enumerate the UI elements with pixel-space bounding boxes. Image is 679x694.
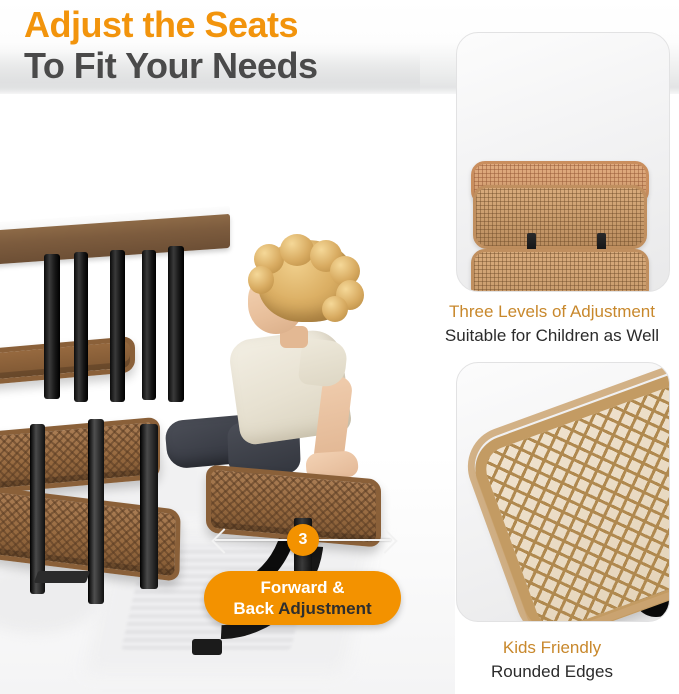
table-leg <box>168 246 184 402</box>
title-line-1: Adjust the Seats <box>24 4 444 46</box>
product-scene: 3 Forward & Back Adjustment <box>0 94 455 694</box>
frame-leg <box>30 424 45 594</box>
table-leg <box>44 254 60 399</box>
caption-subtext: Suitable for Children as Well <box>432 324 672 348</box>
frame-leg <box>88 419 104 604</box>
panel-three-levels <box>456 32 670 292</box>
caption-kids-friendly: Kids Friendly Rounded Edges <box>432 636 672 684</box>
title-line-2: To Fit Your Needs <box>24 46 444 86</box>
hair-curl <box>248 266 274 294</box>
panel-kids-friendly <box>456 362 670 622</box>
caption-headline: Three Levels of Adjustment <box>432 300 672 324</box>
seat-slab-middle <box>473 185 647 249</box>
hair-curl <box>280 234 314 266</box>
forward-back-adjustment-callout: Forward & Back Adjustment <box>204 571 401 625</box>
table-leg <box>74 252 88 402</box>
seat-corner-frame <box>457 362 670 622</box>
callout-line-2-rest: Adjustment <box>274 599 372 618</box>
caption-headline: Kids Friendly <box>432 636 672 660</box>
infographic-root: Adjust the Seats To Fit Your Needs <box>0 0 679 694</box>
frame-foot-bracket <box>192 639 222 655</box>
caption-three-levels: Three Levels of Adjustment Suitable for … <box>432 300 672 348</box>
frame-foot-pad <box>34 571 90 583</box>
table-leg <box>142 250 156 400</box>
caption-subtext: Rounded Edges <box>432 660 672 684</box>
step-number-badge: 3 <box>287 524 319 556</box>
page-title: Adjust the Seats To Fit Your Needs <box>24 4 444 86</box>
hair-curl <box>322 296 348 322</box>
child-figure <box>218 240 393 490</box>
side-clip <box>461 291 475 292</box>
seat-slab-front <box>471 249 649 292</box>
callout-line-2: Back Adjustment <box>233 598 371 620</box>
side-clip <box>649 291 663 292</box>
table-leg <box>110 250 125 402</box>
callout-line-2-emphasis: Back <box>233 599 274 618</box>
callout-line-1: Forward & <box>260 577 344 598</box>
